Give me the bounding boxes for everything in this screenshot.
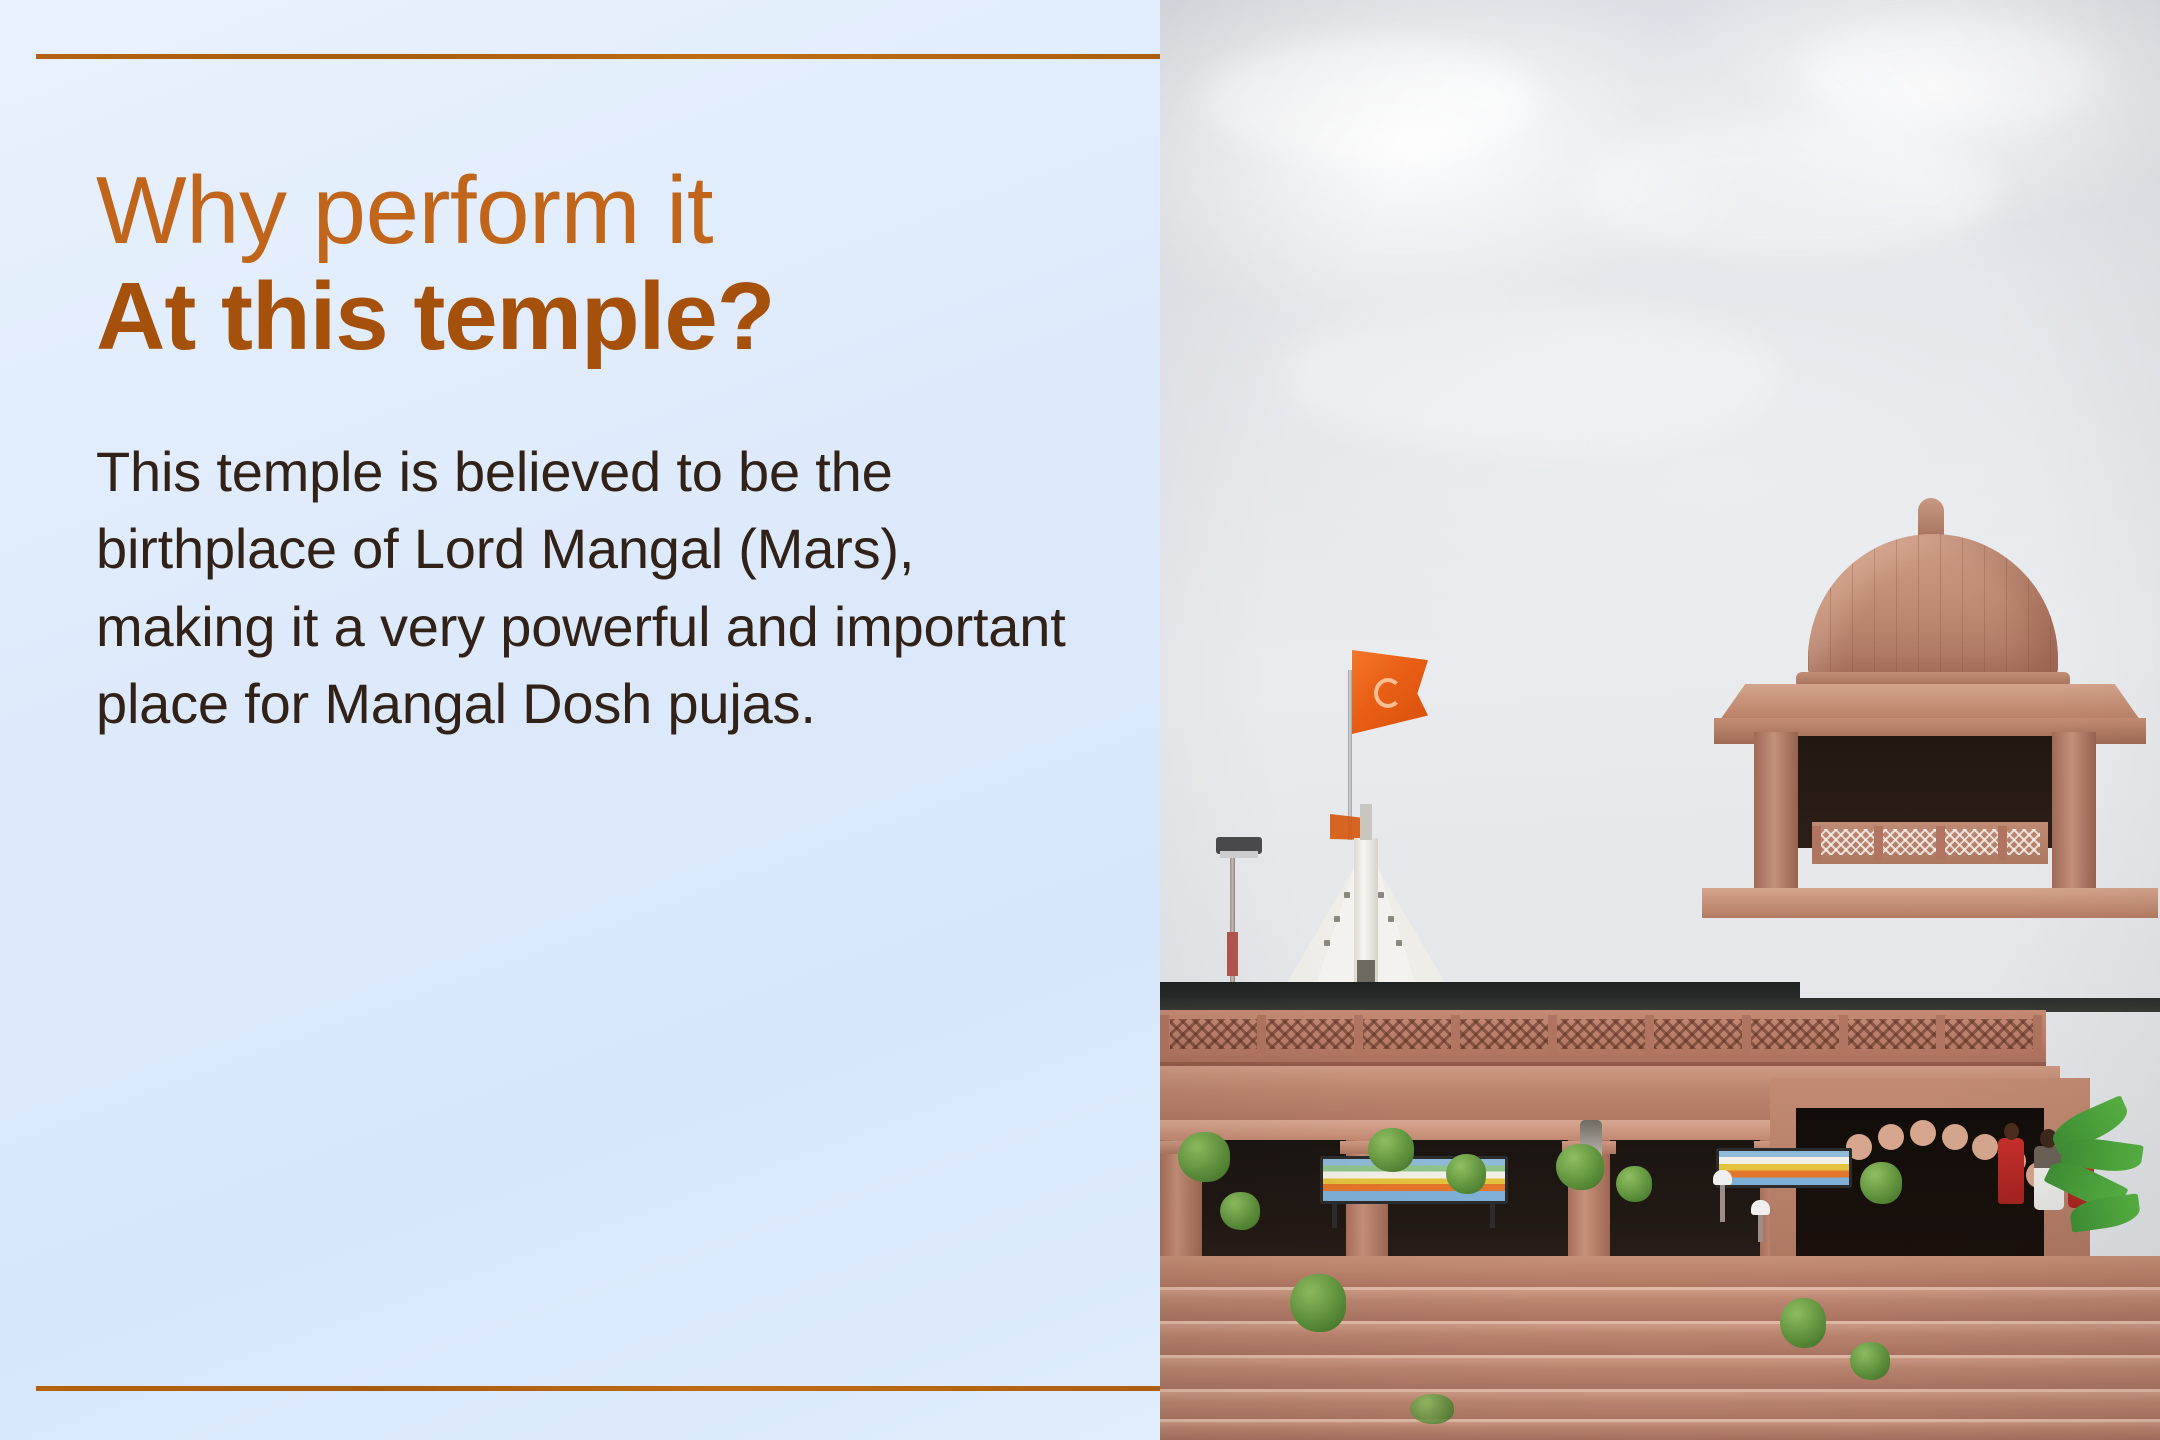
shrub: [1178, 1132, 1230, 1182]
flag-emblem-icon: [1374, 678, 1402, 708]
bottom-divider-rule: [36, 1386, 1160, 1391]
shikhara-detail-dot: [1334, 916, 1340, 922]
ghat-step: [1160, 1355, 2160, 1392]
pavilion-floor-slab: [1702, 888, 2158, 918]
arch-scallop: [1942, 1124, 1968, 1150]
street-lamp-pole: [1230, 842, 1235, 1002]
banana-plant: [2044, 1094, 2154, 1244]
pavilion-pillar: [2052, 732, 2096, 892]
shrub: [1220, 1192, 1260, 1230]
shikhara-detail-dot: [1378, 892, 1384, 898]
text-panel: Why perform it At this temple? This temp…: [0, 0, 1160, 1440]
headline-line-1: Why perform it: [96, 160, 1096, 262]
pavilion-pillar: [1754, 732, 1798, 892]
visitor-head: [2004, 1123, 2019, 1140]
garden-lamp: [1720, 1182, 1725, 1222]
flag-pole: [1348, 670, 1352, 840]
bench-leg: [1332, 1202, 1337, 1228]
slide-root: Why perform it At this temple? This temp…: [0, 0, 2160, 1440]
shrub: [1290, 1274, 1346, 1332]
pavilion-jali-screen: [1812, 822, 2048, 864]
shrub: [1860, 1162, 1902, 1204]
top-divider-rule: [36, 54, 1160, 59]
body-paragraph: This temple is believed to be the birthp…: [96, 371, 1096, 742]
shrub: [1368, 1128, 1414, 1172]
text-block: Why perform it At this temple? This temp…: [96, 160, 1096, 742]
page-title: Why perform it At this temple?: [96, 160, 1096, 371]
shikhara-detail-dot: [1344, 892, 1350, 898]
shikhara-detail-dot: [1388, 916, 1394, 922]
visitor-in-red: [1998, 1138, 2024, 1204]
shrub: [1780, 1298, 1826, 1348]
arch-scallop: [1910, 1120, 1936, 1146]
ghat-step: [1160, 1419, 2160, 1440]
cloud-shape: [1280, 300, 1780, 450]
cloud-shape: [1580, 120, 2000, 260]
headline-line-2: At this temple?: [96, 262, 1096, 371]
banana-leaf: [2068, 1193, 2141, 1232]
pavilion-roof: [1720, 684, 2140, 720]
jali-parapet-railing: [1160, 1010, 2046, 1068]
dome-ribs: [1808, 534, 2058, 682]
street-lamp-head: [1216, 837, 1262, 854]
cloud-shape: [1200, 40, 1540, 160]
shikhara-detail-dot: [1324, 940, 1330, 946]
shrub: [1556, 1144, 1604, 1190]
temple-photo: [1160, 0, 2160, 1440]
shrub: [1410, 1394, 1454, 1424]
shikhara-detail-dot: [1396, 940, 1402, 946]
shrub: [1446, 1154, 1486, 1194]
garden-lamp: [1758, 1212, 1763, 1242]
shrub: [1616, 1166, 1652, 1202]
striped-bench: [1716, 1148, 1852, 1188]
shikhara-finial: [1360, 804, 1372, 840]
shrub: [1850, 1342, 1890, 1380]
shikhara-spire: [1278, 823, 1454, 998]
cloud-shape: [1800, 20, 2100, 130]
arch-scallop: [1972, 1134, 1998, 1160]
bench-leg: [1490, 1202, 1495, 1228]
arch-scallop: [1878, 1124, 1904, 1150]
